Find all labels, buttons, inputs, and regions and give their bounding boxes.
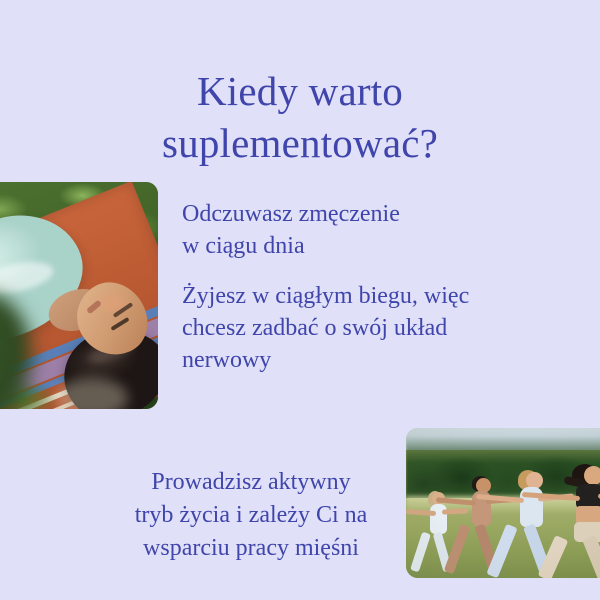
benefits-list: Odczuwasz zmęczenie w ciągu dnia Żyjesz … [182,198,512,376]
benefit-1-line-2: w ciągu dnia [182,230,512,262]
benefit-item-1: Odczuwasz zmęczenie w ciągu dnia [182,198,512,262]
benefit-2-line-2: chcesz zadbać o swój układ [182,312,512,344]
benefit-1-line-1: Odczuwasz zmęczenie [182,198,512,230]
benefit-item-2: Żyjesz w ciągłym biegu, więc chcesz zadb… [182,280,512,376]
bottom-line-3: wsparciu pracy mięśni [96,532,406,565]
image-woman-resting [0,182,158,409]
bottom-benefit-text: Prowadzisz aktywny tryb życia i zależy C… [96,466,406,565]
promo-slide: Kiedy warto suplementować? Odczuwasz zmę… [0,0,600,600]
bottom-line-1: Prowadzisz aktywny [96,466,406,499]
benefit-2-line-3: nerwowy [182,344,512,376]
bottom-line-2: tryb życia i zależy Ci na [96,499,406,532]
image-group-yoga [406,428,600,578]
page-title: Kiedy warto suplementować? [0,65,600,169]
page-title-line-2: suplementować? [0,117,600,169]
page-title-line-1: Kiedy warto [0,65,600,117]
photo-vignette [406,428,600,578]
benefit-2-line-1: Żyjesz w ciągłym biegu, więc [182,280,512,312]
